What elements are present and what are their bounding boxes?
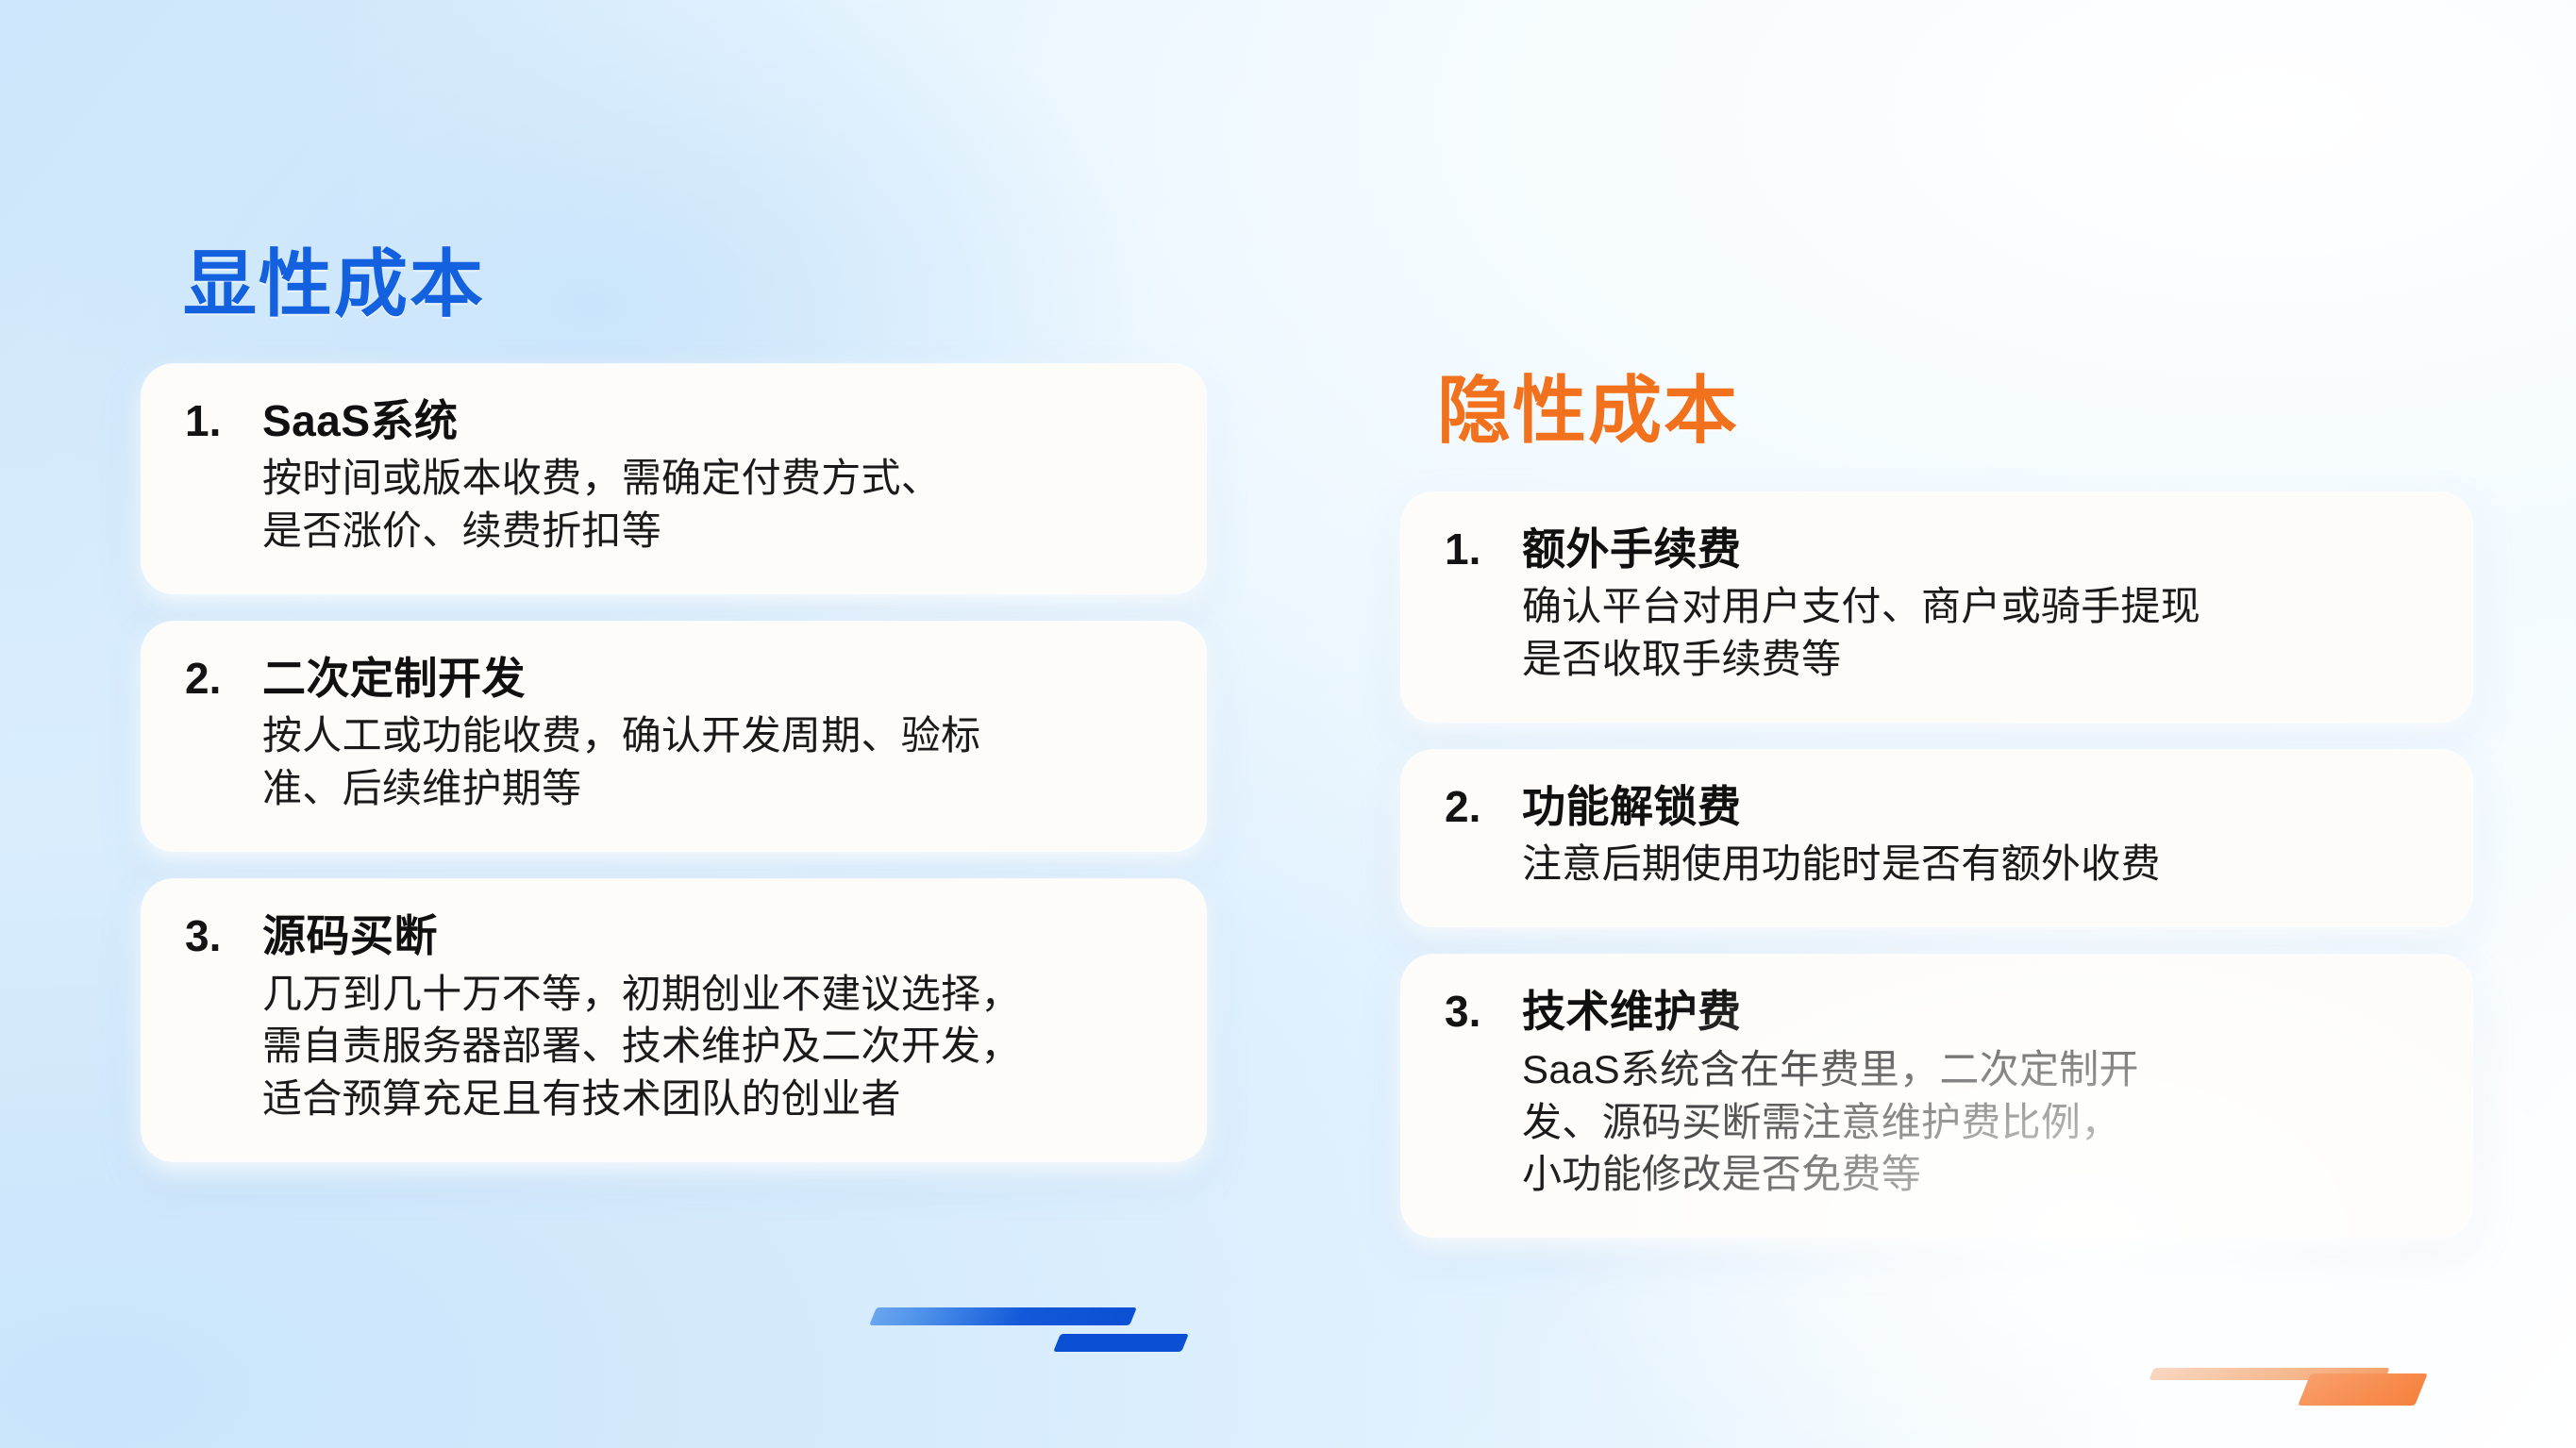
- item-number: 2.: [1445, 782, 1522, 832]
- item-description: SaaS系统含在年费里，二次定制开 发、源码买断需注意维护费比例， 小功能修改是…: [1522, 1043, 2429, 1202]
- cost-card: 2. 功能解锁费 注意后期使用功能时是否有额外收费: [1401, 750, 2472, 926]
- item-title: 二次定制开发: [262, 654, 1163, 704]
- list-item: 3. 技术维护费 SaaS系统含在年费里，二次定制开 发、源码买断需注意维护费比…: [1445, 987, 2429, 1201]
- column-implicit-cost: 隐性成本 1. 额外手续费 确认平台对用户支付、商户或骑手提现 是否收取手续费等…: [1401, 374, 2472, 1237]
- orange-bar-thick-icon: [2298, 1373, 2428, 1406]
- cost-card: 3. 源码买断 几万到几十万不等，初期创业不建议选择， 需自责服务器部署、技术维…: [142, 879, 1206, 1161]
- item-body: 功能解锁费 注意后期使用功能时是否有额外收费: [1522, 782, 2429, 890]
- item-title: SaaS系统: [262, 396, 1163, 446]
- item-number: 3.: [185, 911, 262, 961]
- item-number: 1.: [1445, 524, 1522, 574]
- item-title: 技术维护费: [1522, 987, 2429, 1037]
- orange-arrow-accent-icon: [2151, 1351, 2510, 1436]
- item-body: SaaS系统 按时间或版本收费，需确定付费方式、 是否涨价、续费折扣等: [262, 396, 1163, 558]
- item-body: 额外手续费 确认平台对用户支付、商户或骑手提现 是否收取手续费等: [1522, 524, 2429, 686]
- item-title: 功能解锁费: [1522, 782, 2429, 832]
- list-item: 2. 功能解锁费 注意后期使用功能时是否有额外收费: [1445, 782, 2429, 890]
- list-item: 3. 源码买断 几万到几十万不等，初期创业不建议选择， 需自责服务器部署、技术维…: [185, 911, 1163, 1125]
- item-title: 额外手续费: [1522, 524, 2429, 574]
- card-stack-implicit: 1. 额外手续费 确认平台对用户支付、商户或骑手提现 是否收取手续费等 2. 功…: [1401, 492, 2472, 1237]
- item-title: 源码买断: [262, 911, 1163, 961]
- cost-card: 3. 技术维护费 SaaS系统含在年费里，二次定制开 发、源码买断需注意维护费比…: [1401, 955, 2472, 1237]
- list-item: 1. SaaS系统 按时间或版本收费，需确定付费方式、 是否涨价、续费折扣等: [185, 396, 1163, 558]
- orange-bar-thin-icon: [2149, 1368, 2389, 1380]
- item-description: 注意后期使用功能时是否有额外收费: [1522, 838, 2429, 890]
- slide-canvas: 显性成本 1. SaaS系统 按时间或版本收费，需确定付费方式、 是否涨价、续费…: [0, 0, 2576, 1448]
- section-title-explicit: 显性成本: [142, 247, 1206, 321]
- item-number: 2.: [185, 654, 262, 704]
- item-description: 按时间或版本收费，需确定付费方式、 是否涨价、续费折扣等: [262, 452, 1163, 558]
- item-body: 源码买断 几万到几十万不等，初期创业不建议选择， 需自责服务器部署、技术维护及二…: [262, 911, 1163, 1125]
- item-number: 1.: [185, 396, 262, 446]
- cost-card: 2. 二次定制开发 按人工或功能收费，确认开发周期、验标 准、后续维护期等: [142, 622, 1206, 851]
- item-body: 技术维护费 SaaS系统含在年费里，二次定制开 发、源码买断需注意维护费比例， …: [1522, 987, 2429, 1201]
- cost-card: 1. SaaS系统 按时间或版本收费，需确定付费方式、 是否涨价、续费折扣等: [142, 364, 1206, 593]
- section-title-implicit: 隐性成本: [1401, 374, 2472, 447]
- item-number: 3.: [1445, 987, 1522, 1037]
- item-body: 二次定制开发 按人工或功能收费，确认开发周期、验标 准、后续维护期等: [262, 654, 1163, 815]
- item-description: 按人工或功能收费，确认开发周期、验标 准、后续维护期等: [262, 709, 1163, 815]
- blue-bar-short-icon: [1053, 1334, 1189, 1352]
- item-description: 几万到几十万不等，初期创业不建议选择， 需自责服务器部署、技术维护及二次开发， …: [262, 968, 1163, 1126]
- list-item: 2. 二次定制开发 按人工或功能收费，确认开发周期、验标 准、后续维护期等: [185, 654, 1163, 815]
- blue-arrow-accent-icon: [873, 1304, 1198, 1379]
- cost-card: 1. 额外手续费 确认平台对用户支付、商户或骑手提现 是否收取手续费等: [1401, 492, 2472, 722]
- list-item: 1. 额外手续费 确认平台对用户支付、商户或骑手提现 是否收取手续费等: [1445, 524, 2429, 686]
- card-stack-explicit: 1. SaaS系统 按时间或版本收费，需确定付费方式、 是否涨价、续费折扣等 2…: [142, 364, 1206, 1161]
- item-description: 确认平台对用户支付、商户或骑手提现 是否收取手续费等: [1522, 580, 2429, 686]
- column-explicit-cost: 显性成本 1. SaaS系统 按时间或版本收费，需确定付费方式、 是否涨价、续费…: [142, 247, 1206, 1161]
- blue-bar-long-icon: [869, 1307, 1137, 1325]
